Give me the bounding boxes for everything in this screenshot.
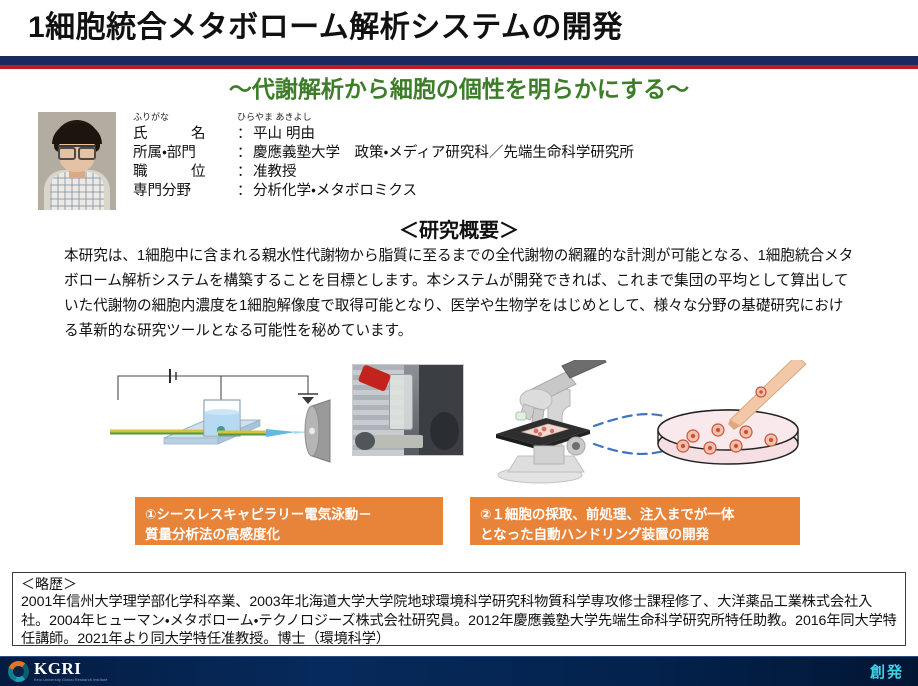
portrait-photo — [38, 112, 116, 210]
caption-1-line-1: ①シースレスキャピラリー電気泳動－ — [145, 505, 433, 525]
profile-block: ふりがな ひらやま あきよし 氏 名：平山 明由 所属・部門：慶應義塾大学 政策… — [133, 112, 773, 201]
footer-bar: KGRI Keio University Global Research Ins… — [0, 656, 918, 686]
profile-value-affiliation: 慶應義塾大学 政策・メディア研究科／先端生命科学研究所 — [253, 145, 634, 161]
overview-heading: ＜研究概要＞ — [0, 214, 918, 243]
biography-box: ＜略歴＞ 2001年信州大学理学部化学科卒業、2003年北海道大学大学院地球環境… — [12, 572, 906, 646]
caption-box-2: ②１細胞の採取、前処理、注入までが一体 となった自動ハンドリング装置の開発 — [470, 497, 800, 545]
kgri-globe-icon — [8, 661, 29, 682]
kgri-wordmark: KGRI — [34, 660, 108, 677]
profile-label-name: 氏 名 — [133, 125, 237, 144]
photo-glass-vial — [389, 374, 413, 430]
kgri-tagline: Keio University Global Research Institut… — [34, 679, 108, 683]
page-title: 1細胞統合メタボローム解析システムの開発 — [28, 6, 888, 50]
figure-capillary-photo — [352, 364, 464, 456]
slide-root: 1細胞統合メタボローム解析システムの開発 〜代謝解析から細胞の個性を明らかにする… — [0, 0, 918, 686]
portrait-hair-top — [52, 124, 102, 144]
footer-right-label: 創発 — [870, 661, 904, 682]
overview-body: 本研究は、1細胞中に含まれる親水性代謝物から脂質に至るまでの全代謝物の網羅的な計… — [64, 244, 854, 344]
furigana-label: ふりがな — [133, 112, 169, 123]
biography-body: 2001年信州大学理学部化学科卒業、2003年北海道大学大学院地球環境科学研究科… — [21, 593, 899, 649]
caption-2-line-1: ②１細胞の採取、前処理、注入までが一体 — [480, 505, 790, 525]
figure-microscope-petri — [478, 360, 808, 488]
profile-label-field: 専門分野 — [133, 182, 237, 201]
profile-row-field: 専門分野 ：分析化学・メタボロミクス — [133, 182, 773, 201]
footer-top-rule — [0, 656, 918, 657]
caption-1-line-2: 質量分析法の高感度化 — [145, 525, 433, 545]
page-subtitle: 〜代謝解析から細胞の個性を明らかにする〜 — [0, 74, 918, 104]
microscope-svg — [478, 360, 808, 488]
photo-dark-disc — [430, 412, 459, 450]
profile-row-affiliation: 所属・部門：慶應義塾大学 政策・メディア研究科／先端生命科学研究所 — [133, 144, 773, 163]
photo-mount-base — [373, 435, 424, 448]
furigana-row: ふりがな ひらやま あきよし — [133, 112, 773, 125]
profile-label-affiliation: 所属・部門 — [133, 144, 237, 163]
profile-colon-position: ： — [237, 163, 253, 182]
portrait-glasses — [58, 145, 96, 156]
profile-value-name: 平山 明由 — [253, 126, 315, 142]
profile-row-name: 氏 名：平山 明由 — [133, 125, 773, 144]
electrophoresis-svg — [108, 366, 340, 484]
figure-electrophoresis-schematic — [108, 366, 340, 484]
caption-2-line-2: となった自動ハンドリング装置の開発 — [480, 525, 790, 545]
profile-value-field: 分析化学・メタボロミクス — [253, 183, 417, 199]
kgri-logo-text: KGRI Keio University Global Research Ins… — [34, 660, 108, 683]
profile-colon-name: ： — [237, 125, 253, 144]
biography-heading: ＜略歴＞ — [21, 576, 899, 593]
photo-metal-knob — [355, 432, 375, 450]
capillary-photo-content — [353, 365, 463, 455]
furigana-name: ひらやま あきよし — [237, 112, 312, 123]
divider-navy — [0, 56, 918, 65]
profile-colon-field: ： — [237, 182, 253, 201]
profile-row-position: 職 位：准教授 — [133, 163, 773, 182]
profile-label-position: 職 位 — [133, 163, 237, 182]
profile-value-position: 准教授 — [253, 164, 297, 180]
kgri-logo[interactable]: KGRI Keio University Global Research Ins… — [8, 659, 108, 683]
divider-red — [0, 65, 918, 69]
caption-box-1: ①シースレスキャピラリー電気泳動－ 質量分析法の高感度化 — [135, 497, 443, 545]
profile-colon-affiliation: ： — [237, 144, 253, 163]
